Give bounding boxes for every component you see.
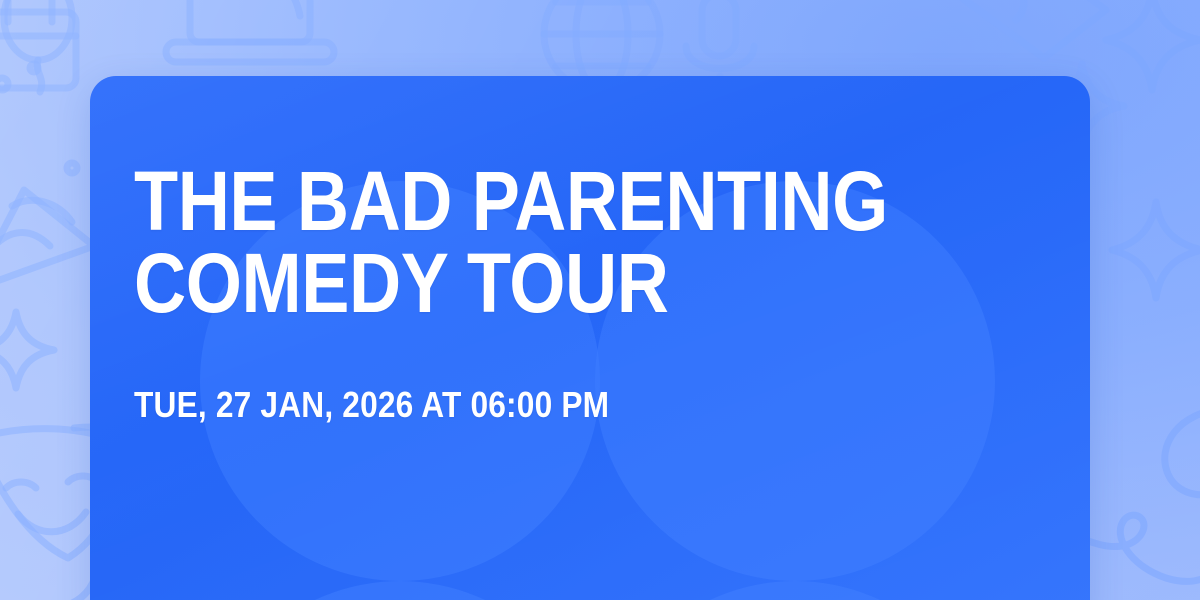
confetti-icon bbox=[0, 60, 82, 160]
event-title: The Bad Parenting Comedy Tour bbox=[134, 160, 918, 325]
calendar-icon bbox=[0, 0, 92, 100]
banner-stage: The Bad Parenting Comedy Tour Tue, 27 Ja… bbox=[0, 0, 1200, 600]
ticket-icon bbox=[930, 0, 1130, 88]
swirl-line-icon bbox=[1116, 390, 1200, 560]
sparkle-icon bbox=[0, 300, 66, 400]
sparkle-icon bbox=[1096, 0, 1200, 98]
card-content: The Bad Parenting Comedy Tour Tue, 27 Ja… bbox=[134, 76, 1046, 600]
event-card: The Bad Parenting Comedy Tour Tue, 27 Ja… bbox=[90, 76, 1090, 600]
event-datetime: Tue, 27 Jan, 2026 at 06:00 PM bbox=[134, 387, 937, 423]
swirl-line-icon bbox=[1072, 470, 1200, 600]
sparkle-icon bbox=[1100, 188, 1200, 308]
